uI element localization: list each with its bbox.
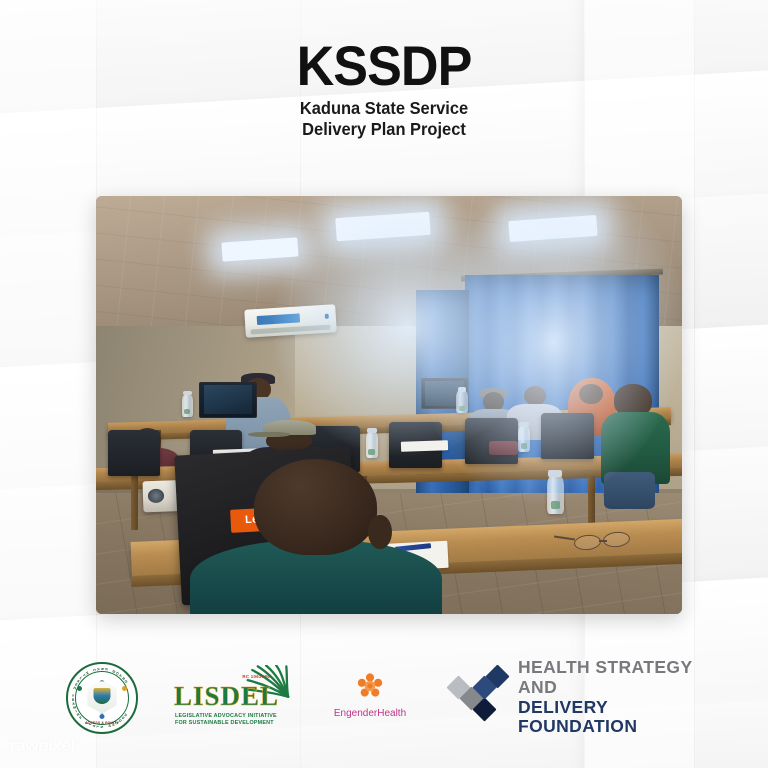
hsdf-wordmark: HEALTH STRATEGY AND DELIVERY FOUNDATION — [518, 658, 702, 736]
monitor-screen — [204, 385, 253, 414]
table-leg — [131, 476, 138, 530]
ksphcb-seal: KADUNA STATE PRIMARY HEALTH CARE BOARD A… — [66, 662, 138, 734]
water-bottle — [547, 476, 563, 514]
monitor — [199, 382, 258, 418]
hsdf-wordmark-line-2: DELIVERY FOUNDATION — [518, 698, 702, 737]
water-bottle — [456, 391, 467, 414]
water-bottle — [182, 395, 193, 418]
logo-kaduna-state-primary-health-care-board: KADUNA STATE PRIMARY HEALTH CARE BOARD A… — [66, 662, 138, 734]
subtitle-line-1: Kaduna State Service — [23, 98, 745, 119]
rawpixel-watermark: rawpixel® — [10, 736, 80, 756]
bottle-cap — [519, 422, 529, 427]
lisdel-tagline-line-2: FOR SUSTAINABLE DEVELOPMENT — [175, 720, 287, 727]
bottle-cap — [183, 391, 192, 396]
logo-engenderhealth: EngenderHealth — [324, 669, 416, 727]
hsdf-wordmark-line-1: HEALTH STRATEGY AND — [518, 658, 702, 697]
workshop-photo: Lenovo — [96, 196, 682, 614]
air-conditioner — [245, 304, 337, 337]
projector-lens — [147, 489, 164, 503]
ac-brand-logo — [257, 313, 301, 325]
lisdel-rc-number: RC 1063686 — [242, 674, 270, 679]
participant-right — [606, 384, 682, 509]
lisdel-tagline-line-1: LEGISLATIVE ADVOCACY INITIATIVE — [175, 713, 287, 720]
participant-head — [579, 384, 602, 404]
water-bottle — [366, 432, 378, 458]
logo-lisdel: RC 1063686 LISDEL LEGISLATIVE ADVOCACY I… — [172, 667, 290, 729]
photo-scene: Lenovo — [96, 196, 682, 614]
participant-head — [524, 386, 546, 405]
ac-indicator-light — [325, 314, 330, 319]
bottle-cap — [548, 470, 561, 477]
water-bottle — [518, 426, 530, 452]
seal-coat-of-arms — [94, 688, 111, 704]
lisdel-tagline: LEGISLATIVE ADVOCACY INITIATIVE FOR SUST… — [175, 713, 287, 727]
participant-legs — [604, 472, 655, 510]
logo-health-strategy-and-delivery-foundation: HEALTH STRATEGY AND DELIVERY FOUNDATION — [450, 668, 702, 728]
seal-accent-dot — [122, 686, 127, 691]
cap-brim — [248, 432, 290, 438]
seal-tagline: ACCESS & EQUITY — [85, 721, 119, 725]
subtitle-line-2: Delivery Plan Project — [23, 119, 745, 140]
bottle-cap — [367, 428, 377, 433]
hsdf-diamond-mark — [450, 675, 506, 721]
engenderhealth-wordmark: EngenderHealth — [334, 708, 406, 719]
pencil-pouch — [489, 441, 518, 455]
engenderhealth-flower-icon — [357, 673, 383, 699]
eyeglasses-bridge — [599, 540, 607, 542]
page-title-acronym: KSSDP — [27, 38, 741, 94]
document-paper — [401, 440, 448, 452]
foreground-participant-ear — [368, 515, 391, 549]
watermark-registered-mark: ® — [75, 737, 81, 746]
office-chair — [541, 413, 594, 459]
office-chair — [108, 430, 161, 476]
title-block: KSSDP Kaduna State Service Delivery Plan… — [0, 38, 768, 141]
watermark-text: rawpixel — [10, 736, 75, 755]
lisdel-wordmark: LISDEL — [174, 681, 279, 712]
partner-logo-strip: KADUNA STATE PRIMARY HEALTH CARE BOARD A… — [0, 655, 768, 740]
foreground-participant — [243, 459, 390, 614]
seal-accent-dot — [77, 686, 82, 691]
ac-vent — [251, 324, 331, 334]
seal-accent-dot — [100, 714, 105, 719]
foreground-participant-head — [254, 459, 377, 555]
bottle-cap — [458, 387, 467, 392]
participant-head — [483, 392, 504, 410]
page-subtitle: Kaduna State Service Delivery Plan Proje… — [23, 98, 745, 141]
